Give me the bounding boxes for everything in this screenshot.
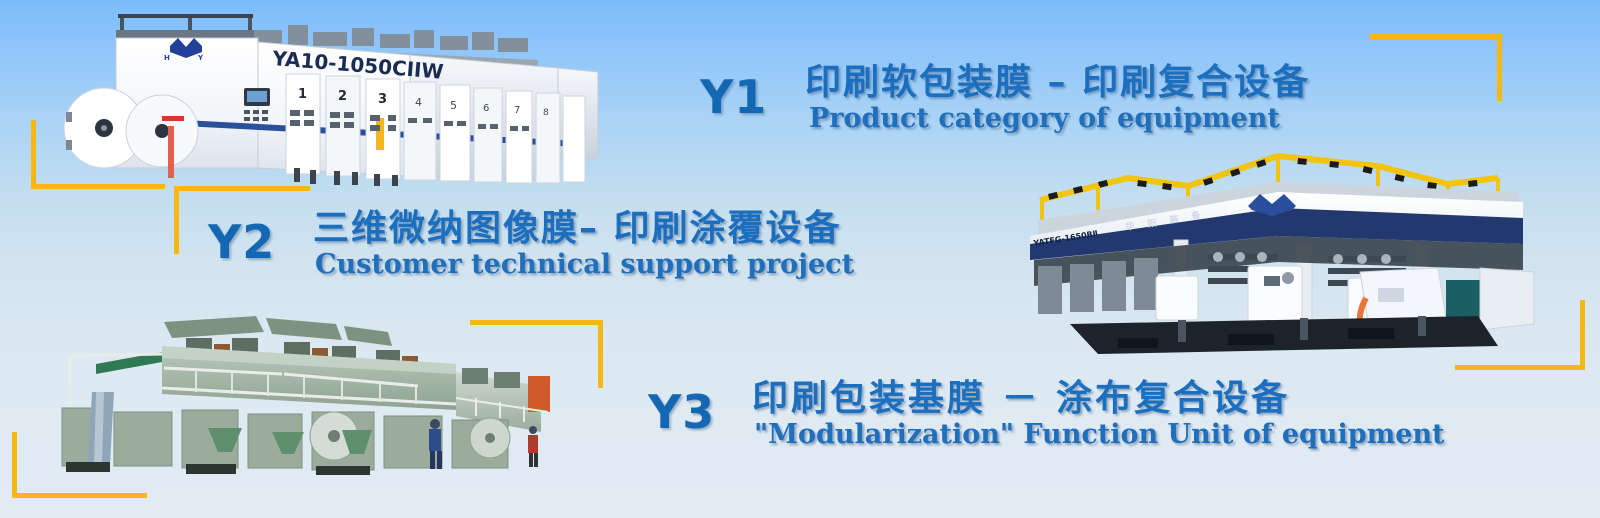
bracket-bottom-right-horizontal [1455, 365, 1585, 370]
row-text-y2: 三维微纳图像膜– 印刷涂覆设备 Customer technical suppo… [313, 208, 854, 280]
bracket-top-right-vertical [1497, 34, 1502, 101]
svg-text:4: 4 [415, 96, 422, 109]
row-title-en-y2: Customer technical support project [315, 250, 854, 280]
row-code-y2: Y2 [208, 215, 275, 269]
svg-text:3: 3 [378, 92, 387, 107]
laminating-machine-photo-right: 华 阳 装 备 YATFG-1650BⅡ [978, 148, 1538, 366]
svg-text:6: 6 [483, 103, 489, 114]
bracket-y3-vertical [598, 320, 603, 388]
row-title-en-y1: Product category of equipment [809, 104, 1310, 134]
row-title-en-y3: "Modularization" Function Unit of equipm… [754, 420, 1445, 450]
svg-text:2: 2 [338, 89, 347, 104]
row-title-cn-y2: 三维微纳图像膜– 印刷涂覆设备 [313, 208, 854, 250]
bracket-y3-horizontal [470, 320, 603, 325]
svg-text:阳: 阳 [1147, 218, 1158, 230]
coating-line-photo-bottom-left [36, 312, 576, 482]
svg-text:8: 8 [543, 108, 549, 118]
row-text-y1: 印刷软包装膜 – 印刷复合设备 Product category of equi… [805, 62, 1310, 134]
printing-press-photo-top-left: H Y YA10-1050CIIW [58, 8, 603, 186]
svg-text:7: 7 [514, 105, 520, 116]
bracket-top-left-horizontal [31, 184, 165, 189]
svg-text:1: 1 [298, 87, 307, 102]
svg-text:H: H [164, 54, 170, 62]
svg-text:5: 5 [450, 99, 457, 112]
bracket-top-left-vertical [31, 120, 36, 189]
product-category-banner: H Y YA10-1050CIIW [0, 0, 1600, 518]
bracket-top-right-horizontal [1370, 34, 1502, 39]
bracket-y2-vertical [174, 186, 179, 254]
row-title-cn-y1: 印刷软包装膜 – 印刷复合设备 [805, 62, 1310, 104]
bracket-y2-horizontal [174, 186, 310, 191]
row-text-y3: 印刷包装基膜 － 涂布复合设备 "Modularization" Functio… [752, 378, 1445, 450]
bracket-bottom-left-horizontal [12, 493, 147, 498]
row-title-cn-y3: 印刷包装基膜 － 涂布复合设备 [752, 378, 1445, 420]
row-code-y3: Y3 [648, 385, 715, 439]
row-code-y1: Y1 [700, 70, 767, 124]
bracket-bottom-right-vertical [1580, 300, 1585, 370]
bracket-bottom-left-vertical [12, 432, 17, 498]
svg-text:Y: Y [197, 54, 204, 62]
